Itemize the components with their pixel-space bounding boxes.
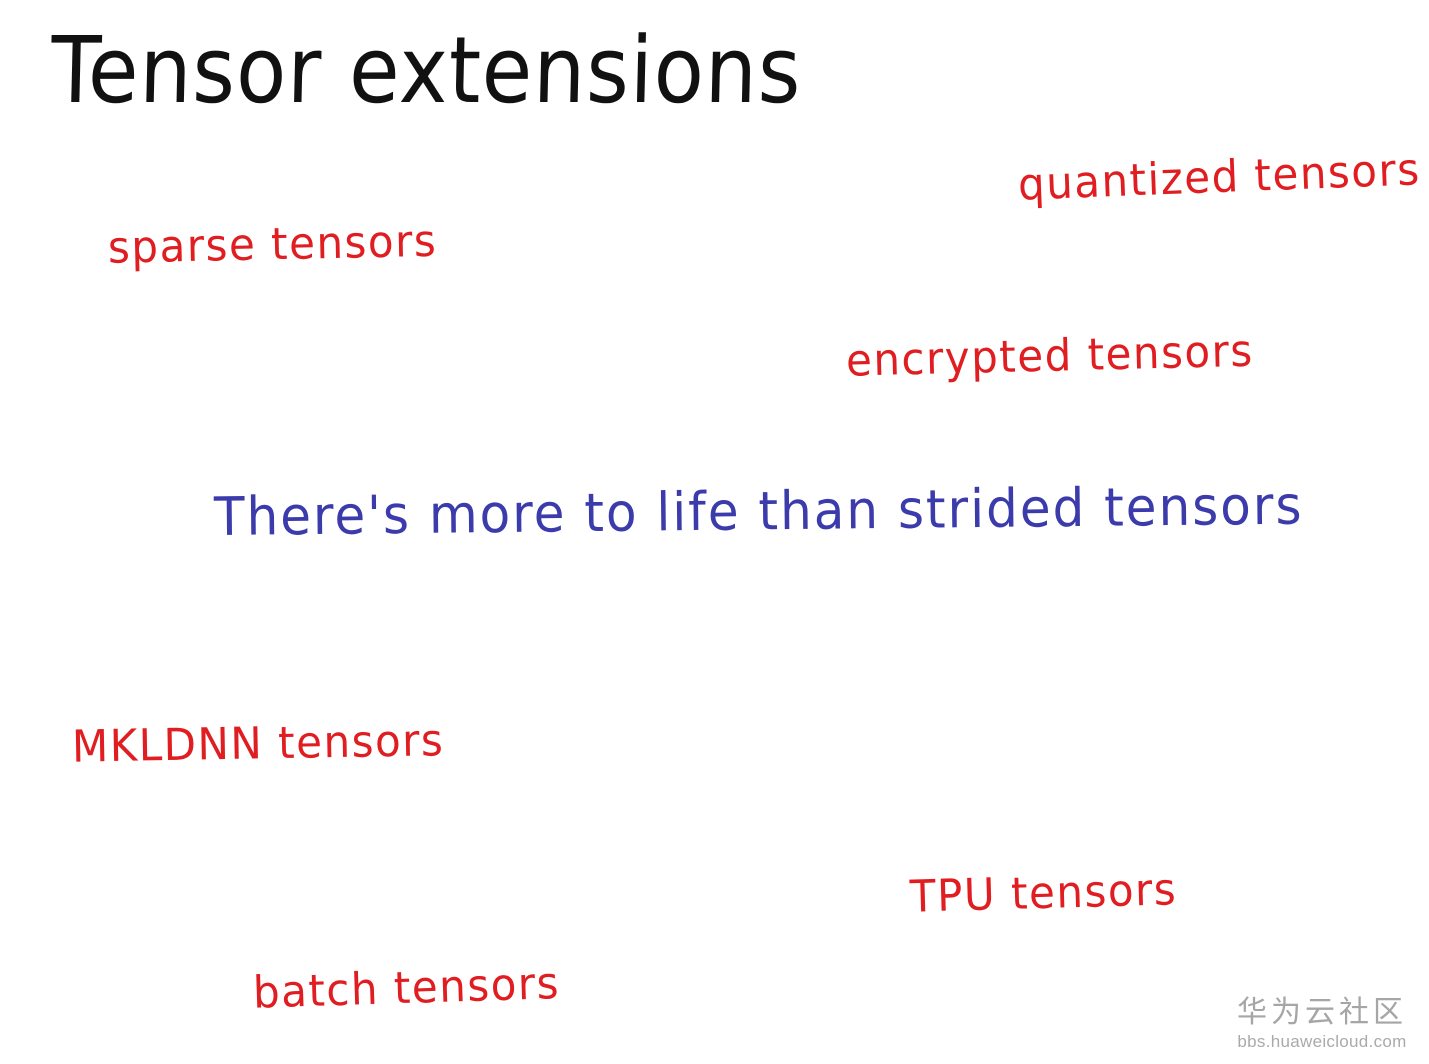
slide-canvas: Tensor extensions quantized tensors spar… <box>0 0 1429 1064</box>
watermark: 华为云社区 bbs.huaweicloud.com <box>1237 996 1407 1053</box>
annotation-quantized-tensors: quantized tensors <box>1017 148 1421 208</box>
page-title: Tensor extensions <box>50 26 803 118</box>
annotation-tpu-tensors: TPU tensors <box>909 867 1177 919</box>
watermark-brand: 华为云社区 <box>1237 996 1407 1031</box>
annotation-batch-tensors: batch tensors <box>252 961 560 1015</box>
annotation-mkldnn-tensors: MKLDNN tensors <box>72 718 445 769</box>
annotation-encrypted-tensors: encrypted tensors <box>845 329 1254 383</box>
watermark-url: bbs.huaweicloud.com <box>1237 1032 1407 1052</box>
headline-text: There's more to life than strided tensor… <box>214 479 1304 543</box>
annotation-sparse-tensors: sparse tensors <box>108 219 438 270</box>
